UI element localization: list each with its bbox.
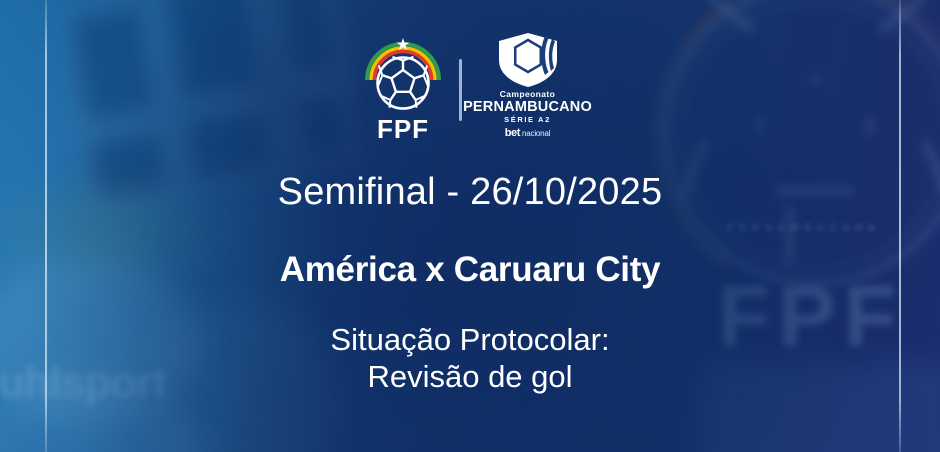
logo-row: FEDERACAO PERNAMBUCANA DE FUTEBOL FPF: [361, 32, 580, 148]
fpf-crest-icon: FEDERACAO PERNAMBUCANA DE FUTEBOL FPF: [361, 34, 445, 146]
campeonato-line3: SÉRIE A2: [463, 116, 592, 124]
protocol-status-label: Situação Protocolar:: [0, 322, 940, 359]
logo-divider: [459, 59, 462, 121]
match-stage-and-date: Semifinal - 26/10/2025: [0, 172, 940, 214]
shield-ball-icon: [495, 32, 561, 88]
bet-wordmark: bet: [505, 128, 520, 139]
campeonato-line2: PERNAMBUCANO: [463, 100, 592, 115]
bet-nacional-sponsor-logo: bet nacional: [463, 128, 592, 139]
fpf-logo: FEDERACAO PERNAMBUCANA DE FUTEBOL FPF: [361, 34, 445, 146]
card-content: FEDERACAO PERNAMBUCANA DE FUTEBOL FPF: [0, 0, 940, 452]
svg-text:FPF: FPF: [376, 114, 428, 144]
headline-block: Semifinal - 26/10/2025 América x Caruaru…: [0, 172, 940, 395]
match-teams: América x Caruaru City: [0, 251, 940, 290]
nacional-wordmark: nacional: [522, 130, 550, 138]
protocol-status-value: Revisão de gol: [0, 359, 940, 396]
match-status-card: uhlsport PERNAMBUCANA FPF: [0, 0, 940, 452]
campeonato-pernambucano-logo: Campeonato PERNAMBUCANO SÉRIE A2 bet nac…: [476, 32, 580, 148]
campeonato-text-block: Campeonato PERNAMBUCANO SÉRIE A2 bet nac…: [463, 90, 592, 139]
protocol-status: Situação Protocolar: Revisão de gol: [0, 322, 940, 395]
campeonato-line1: Campeonato: [463, 90, 592, 99]
